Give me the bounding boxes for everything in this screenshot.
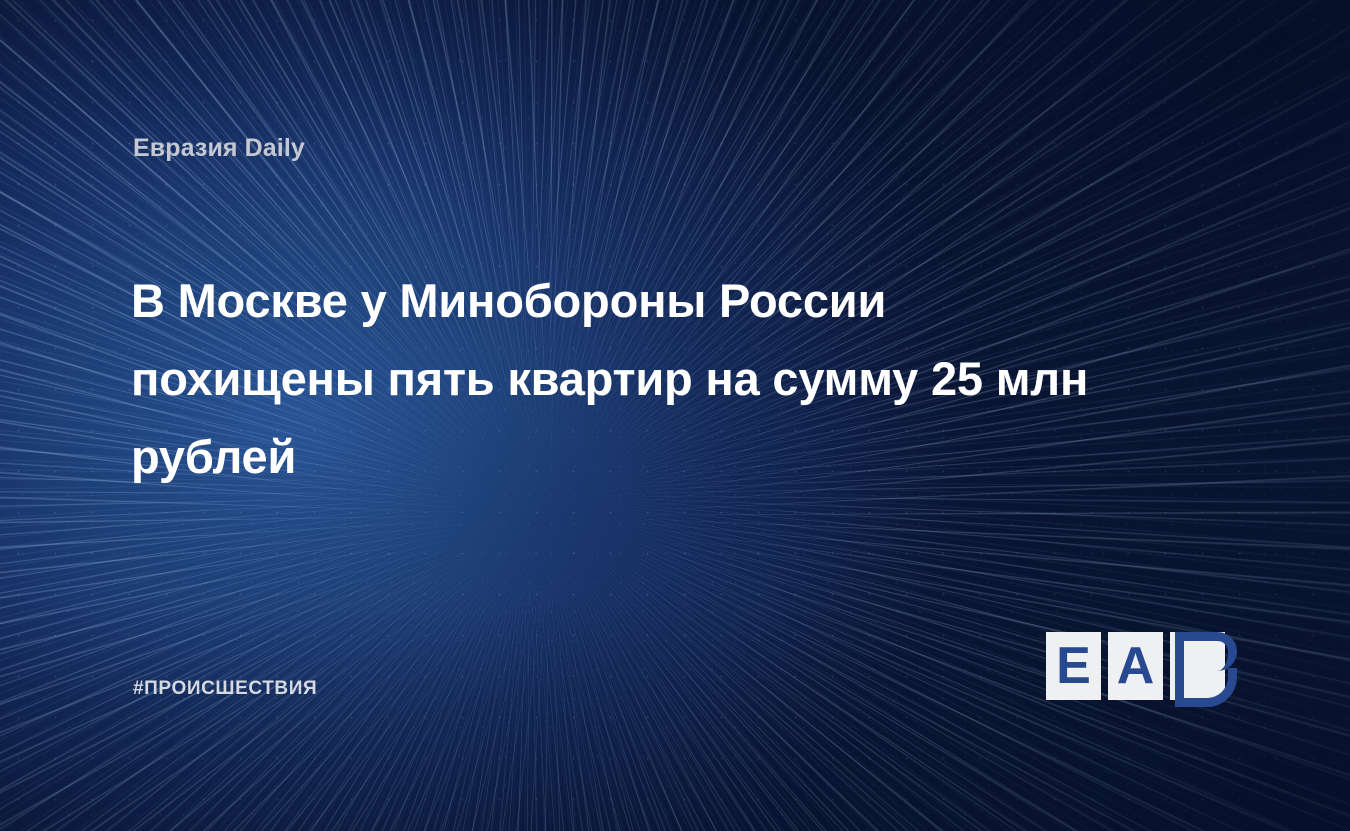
card-content: Евразия Daily В Москве у Минобороны Росс…: [0, 0, 1350, 831]
logo-tile-a: A: [1108, 632, 1163, 700]
logo-d-upper-arc: [1175, 632, 1237, 671]
news-share-card: Евразия Daily В Москве у Минобороны Росс…: [0, 0, 1350, 831]
logo-letter-a: A: [1108, 632, 1163, 700]
headline-title: В Москве у Минобороны России похищены пя…: [131, 262, 1141, 496]
logo-letter-d-mark: [1170, 630, 1242, 702]
category-hashtag[interactable]: #ПРОИСШЕСТВИЯ: [133, 678, 317, 700]
logo-d-lower-arc: [1175, 668, 1237, 707]
logo-letter-e: E: [1046, 632, 1101, 700]
eadaily-logo[interactable]: E A: [1046, 632, 1222, 700]
logo-tile-e: E: [1046, 632, 1101, 700]
brand-name: Евразия Daily: [133, 134, 305, 163]
